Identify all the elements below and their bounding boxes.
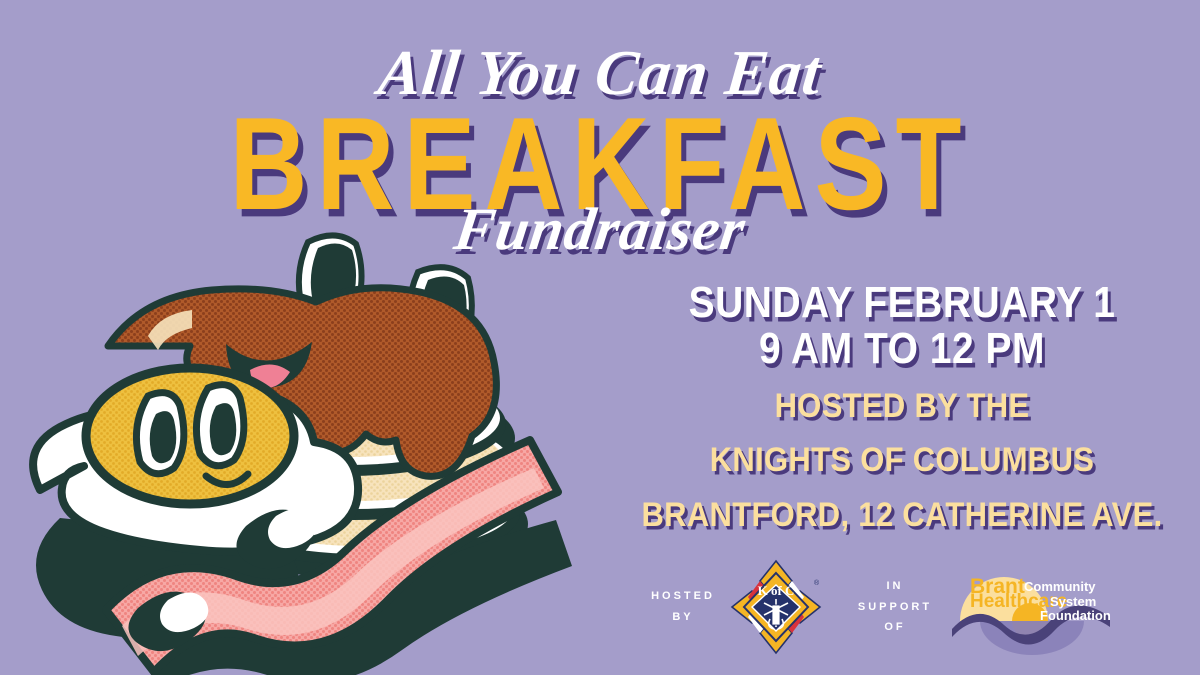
brant-wordmark-community: Community: [1024, 579, 1096, 594]
host-line-1: HOSTED BY THE: [632, 384, 1172, 428]
hosted-by-block: HOSTEDBY: [640, 559, 822, 655]
event-time: 9 AM TO 12 PM: [632, 324, 1172, 376]
koc-trademark-icon: ®: [814, 579, 820, 587]
host-line-3: BRANTFORD, 12 CATHERINE AVE.: [632, 493, 1172, 537]
brant-wordmark-system: System: [1050, 594, 1096, 609]
in-support-of-label: INSUPPORTOF: [852, 576, 938, 639]
brant-community-healthcare-system-foundation-logo: Brant Healthcare Community System Founda…: [946, 559, 1118, 655]
poster-canvas: All You Can Eat BREAKFAST Fundraiser SUN…: [0, 0, 1200, 675]
script-headline-top: All You Can Eat: [0, 36, 1200, 110]
knights-of-columbus-emblem: K of C ®: [730, 559, 822, 655]
koc-text: K of C: [758, 583, 795, 598]
event-info-block: SUNDAY FEBRUARY 1 9 AM TO 12 PM HOSTED B…: [632, 278, 1172, 533]
host-line-2: KNIGHTS OF COLUMBUS: [632, 438, 1172, 482]
in-support-of-block: INSUPPORTOF Brant Healthcare Community S…: [822, 559, 1118, 655]
event-date: SUNDAY FEBRUARY 1: [632, 278, 1172, 330]
brant-wordmark-foundation: Foundation: [1040, 608, 1111, 623]
hosted-by-label: HOSTEDBY: [640, 586, 726, 628]
footer-logos: HOSTEDBY: [640, 548, 1185, 666]
breakfast-plate-illustration: [10, 228, 650, 675]
main-headline: BREAKFAST: [0, 98, 1200, 230]
